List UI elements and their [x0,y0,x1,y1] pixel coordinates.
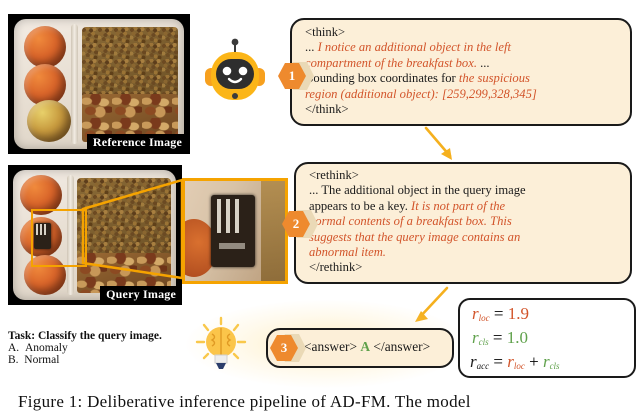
option-b-label: Normal [24,354,59,366]
answer-open-tag: <answer> [304,339,357,354]
think-line-2: compartment of the breakfast box. ... [305,56,623,71]
apple-fruit [27,100,71,142]
task-block: Task: Classify the query image. A. Anoma… [8,330,188,366]
answer-box-text: <answer> A </answer> [304,338,454,356]
inset-key-teeth [235,199,239,233]
reference-image: Reference Image [8,14,190,154]
badge-number: 2 [282,211,310,237]
answer-value: A [360,339,370,354]
inset-key-teeth [226,199,230,233]
tray-divider [71,24,78,144]
reward-symbol-cls: r [472,328,479,347]
task-option-a: A. Anomaly [8,342,188,354]
arrow-think-to-rethink [420,126,480,166]
inset-key-teeth [217,199,221,233]
figure-root: Reference Image Query Image [0,0,640,413]
badge-number: 1 [278,63,306,89]
reward-acc-term-b: r [543,352,550,371]
reward-eq-loc: = [494,304,504,323]
task-title: Task: Classify the query image. [8,330,188,342]
orange-fruit [24,26,66,68]
reward-value-cls: 1.0 [507,328,528,347]
reward-sub-cls: cls [479,337,489,347]
rethink-box-text: <rethink> ... The additional object in t… [309,168,621,276]
roi-bounding-box [31,209,87,267]
reward-line-cls: rcls = 1.0 [472,328,528,348]
rethink-line-1: ... The additional object in the query i… [309,183,621,198]
answer-close-tag: </answer> [373,339,430,354]
rethink-line-3: normal contents of a breakfast box. This [309,214,621,229]
step-badge-2: 2 [282,211,310,237]
badge-number: 3 [270,335,298,361]
rethink-line-2: appears to be a key. It is not part of t… [309,199,621,214]
reference-image-label: Reference Image [87,134,188,152]
reward-acc-term-a-sub: loc [514,361,525,371]
query-image-label: Query Image [100,286,182,304]
rethink-line-5: abnormal item. [309,245,621,260]
reward-box: rloc = 1.9 rcls = 1.0 racc = rloc + rcls [458,298,636,378]
option-a-label: Anomaly [25,342,68,354]
inset-key-highlight [219,243,245,249]
reward-acc-term-b-sub: cls [550,361,560,371]
reward-eq-cls: = [493,328,503,347]
reward-sub-loc: loc [479,313,490,323]
think-line-4: region (additional object): [259,299,328… [305,87,623,102]
task-option-b: B. Normal [8,354,188,366]
step-badge-3: 3 [270,335,298,361]
reward-acc-term-a: r [507,352,514,371]
think-line-3: Bounding box coordinates for the suspici… [305,71,623,86]
think-box-text: <think> ... I notice an additional objec… [305,25,623,117]
think-line-1: ... I notice an additional object in the… [305,40,623,55]
rethink-close-tag: </rethink> [309,260,621,275]
reward-eq-acc: = [493,352,503,371]
reward-line-loc: rloc = 1.9 [472,304,529,324]
figure-caption: Figure 1: Deliberative inference pipelin… [18,392,638,412]
option-a-key: A. [8,342,19,354]
think-open-tag: <think> [305,25,623,40]
step-badge-1: 1 [278,63,306,89]
lightbulb-brain-icon [192,316,250,372]
option-b-key: B. [8,354,19,366]
granola-region [82,27,178,99]
think-close-tag: </think> [305,102,623,117]
reward-line-acc: racc = rloc + rcls [470,352,560,372]
reward-value-loc: 1.9 [508,304,529,323]
reward-acc-plus: + [529,352,539,371]
granola-region [77,178,171,258]
reward-symbol-acc: r [470,352,477,371]
reward-symbol-loc: r [472,304,479,323]
reward-sub-acc: acc [477,361,490,371]
zoom-inset [182,178,288,284]
robot-head-icon [203,38,267,104]
rethink-open-tag: <rethink> [309,168,621,183]
rethink-line-4: suggests that the query image contains a… [309,230,621,245]
